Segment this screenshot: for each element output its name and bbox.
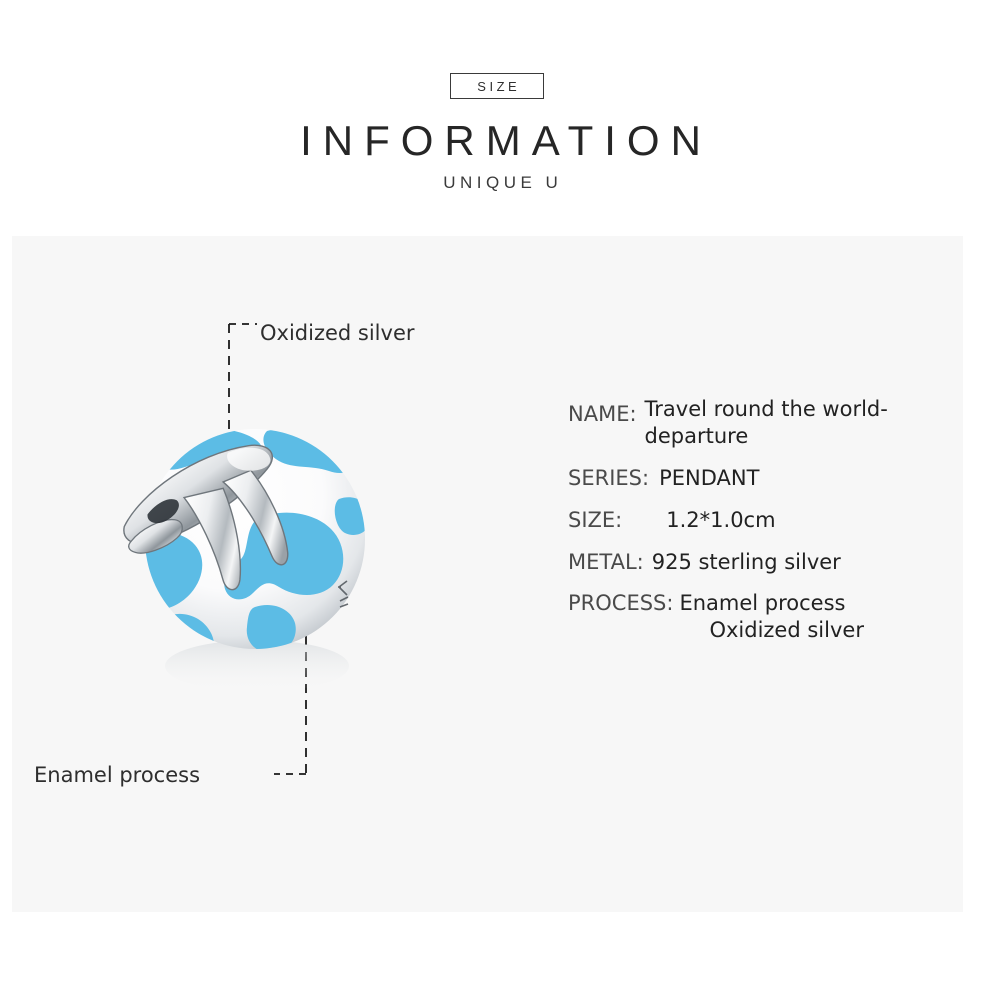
size-badge-label: SIZE [474,79,520,94]
spec-label-metal: METAL: [568,549,644,576]
spec-value-process: Enamel process Oxidized silver [679,590,948,644]
page-subtitle: UNIQUE U [0,173,1001,193]
spec-value-size: 1.2*1.0cm [666,507,948,534]
spec-label-size: SIZE: [568,507,622,534]
spec-label-name: NAME: [568,396,637,428]
spec-value-process-line2: Oxidized silver [709,617,948,644]
callout-label-oxidized-silver: Oxidized silver [260,321,415,345]
page-title: INFORMATION [0,117,1001,165]
callout-label-enamel-process: Enamel process [34,763,200,787]
product-image [107,411,407,711]
spec-row-size: SIZE: 1.2*1.0cm [568,507,948,534]
spec-row-series: SERIES: PENDANT [568,465,948,492]
globe-charm-illustration [107,411,407,711]
spec-row-name: NAME: Travel round the world- departure [568,396,948,450]
spec-value-metal: 925 sterling silver [652,549,948,576]
spec-value-series: PENDANT [659,465,948,492]
spec-label-series: SERIES: [568,465,649,492]
spec-value-process-line1: Enamel process [679,591,845,615]
specification-list: NAME: Travel round the world- departure … [568,396,948,659]
information-panel: Oxidized silver Enamel process [12,236,963,912]
spec-row-process: PROCESS: Enamel process Oxidized silver [568,590,948,644]
size-badge: SIZE [450,73,544,99]
spec-label-process: PROCESS: [568,590,673,617]
spec-value-name: Travel round the world- departure [645,396,907,450]
spec-row-metal: METAL: 925 sterling silver [568,549,948,576]
page-header: SIZE INFORMATION UNIQUE U [0,0,1001,236]
